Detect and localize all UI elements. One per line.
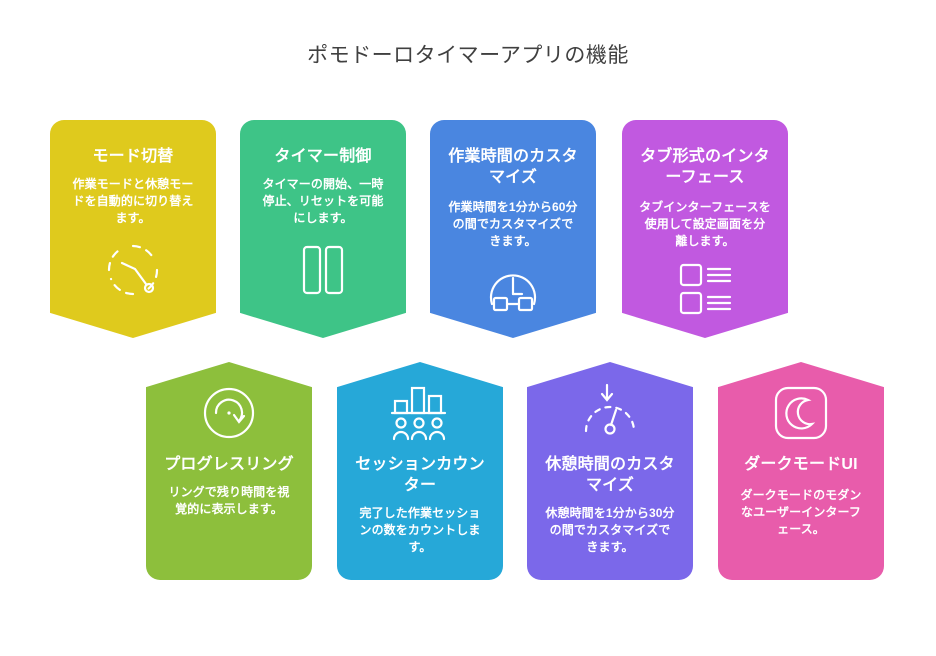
- feature-card-board: モード切替 作業モードと休憩モードを自動的に切り替えます。 タイマー制御 タイマ…: [0, 0, 936, 656]
- card-description: 完了した作業セッションの数をカウントします。: [354, 505, 486, 556]
- feature-card-tabbed-interface[interactable]: タブ形式のインターフェース タブインターフェースを使用して設定画面を分離します。: [622, 120, 788, 338]
- card-description: リングで残り時間を視覚的に表示します。: [163, 484, 295, 518]
- card-description: 休憩時間を1分から30分の間でカスタマイズできます。: [544, 505, 676, 556]
- progress-ring-icon: [194, 378, 264, 448]
- card-description: タブインターフェースを使用して設定画面を分離します。: [639, 199, 771, 250]
- pause-icon: [288, 235, 358, 305]
- feature-card-timer-control[interactable]: タイマー制御 タイマーの開始、一時停止、リセットを可能にします。: [240, 120, 406, 338]
- bar-chart-people-icon: [385, 378, 455, 448]
- feature-card-progress-ring[interactable]: プログレスリング リングで残り時間を視覚的に表示します。: [146, 362, 312, 580]
- card-description: 作業モードと休憩モードを自動的に切り替えます。: [67, 176, 199, 227]
- card-description: 作業時間を1分から60分の間でカスタマイズできます。: [447, 199, 579, 250]
- refresh-clock-icon: [98, 235, 168, 305]
- card-title: 休憩時間のカスタマイズ: [541, 454, 679, 496]
- gauge-down-arrow-icon: [575, 378, 645, 448]
- card-title: ダークモードUI: [732, 454, 870, 475]
- clock-slider-icon: [478, 254, 548, 324]
- card-title: タブ形式のインターフェース: [636, 146, 774, 188]
- moon-app-icon: [766, 378, 836, 448]
- card-title: タイマー制御: [254, 146, 392, 167]
- feature-card-dark-mode[interactable]: ダークモードUI ダークモードのモダンなユーザーインターフェース。: [718, 362, 884, 580]
- tab-list-icon: [670, 254, 740, 324]
- card-title: セッションカウンター: [351, 454, 489, 496]
- card-description: ダークモードのモダンなユーザーインターフェース。: [735, 487, 867, 538]
- feature-card-work-duration[interactable]: 作業時間のカスタマイズ 作業時間を1分から60分の間でカスタマイズできます。: [430, 120, 596, 338]
- card-title: 作業時間のカスタマイズ: [444, 146, 582, 188]
- feature-card-session-counter[interactable]: セッションカウンター 完了した作業セッションの数をカウントします。: [337, 362, 503, 580]
- card-title: モード切替: [64, 146, 202, 167]
- feature-card-mode-switch[interactable]: モード切替 作業モードと休憩モードを自動的に切り替えます。: [50, 120, 216, 338]
- card-description: タイマーの開始、一時停止、リセットを可能にします。: [257, 176, 389, 227]
- card-title: プログレスリング: [160, 454, 298, 475]
- feature-card-break-duration[interactable]: 休憩時間のカスタマイズ 休憩時間を1分から30分の間でカスタマイズできます。: [527, 362, 693, 580]
